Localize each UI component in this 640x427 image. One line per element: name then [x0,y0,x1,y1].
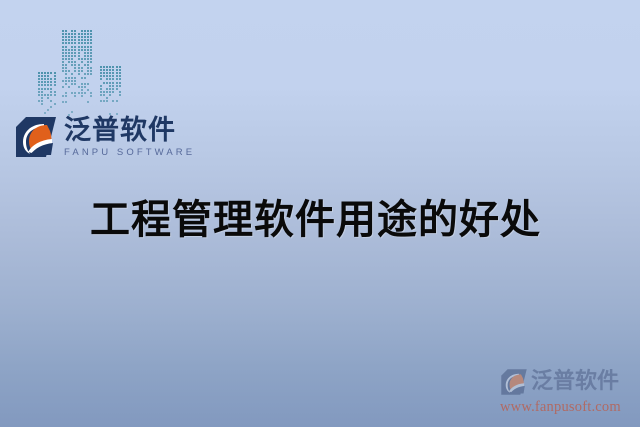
watermark-brand-cn: 泛普软件 [531,371,619,393]
brand-logo: 泛普软件 FANPU SOFTWARE [14,113,195,161]
brand-logo-text: 泛普软件 FANPU SOFTWARE [64,117,195,158]
fanpu-watermark-mark-icon [500,368,528,396]
slide-canvas: 泛普软件 FANPU SOFTWARE 工程管理软件用途的好处 泛普软件 www… [0,0,640,427]
pixel-city-skyline-icon [36,10,126,115]
watermark-logo-row: 泛普软件 [500,366,635,398]
brand-name-en: FANPU SOFTWARE [64,148,195,158]
fanpu-logo-mark-icon [14,115,58,159]
brand-name-cn: 泛普软件 [64,117,195,144]
page-title: 工程管理软件用途的好处 [90,187,541,245]
watermark-url: www.fanpusoft.com [500,399,635,416]
watermark: 泛普软件 www.fanpusoft.com [500,366,635,421]
